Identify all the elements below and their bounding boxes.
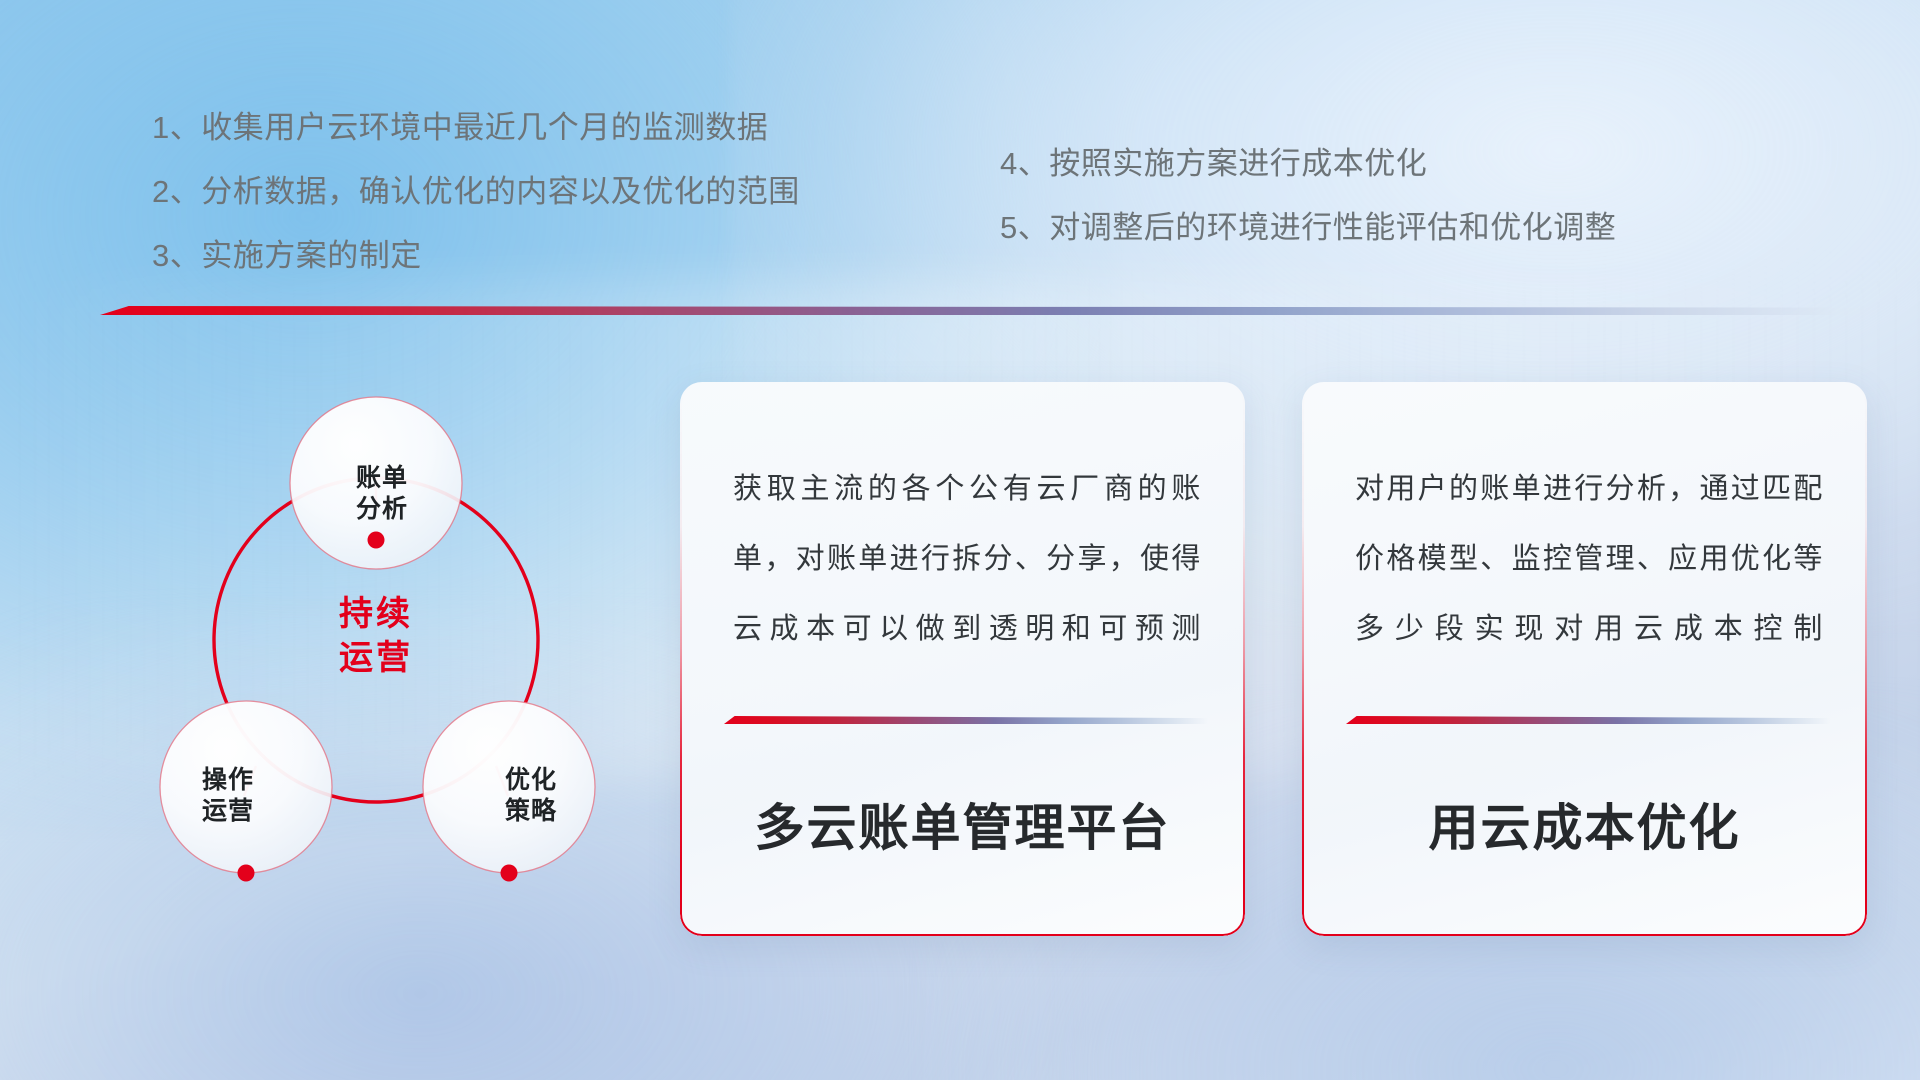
steps-left-column: 1、收集用户云环境中最近几个月的监测数据 2、分析数据，确认优化的内容以及优化的… (152, 112, 800, 304)
venn-label-optimization: 优化 策略 (451, 765, 611, 826)
venn-label-billing-analysis: 账单 分析 (302, 463, 462, 524)
card-divider-line (1346, 716, 1830, 724)
step-item-5: 5、对调整后的环境进行性能评估和优化调整 (1000, 212, 1616, 243)
venn-label-operation-ops: 操作 运营 (148, 765, 308, 826)
continuous-operations-venn-diagram: 账单 分析 操作 运营 优化 策略 持续 运营 (96, 350, 656, 930)
card-description: 对用户的账单进行分析，通过匹配价格模型、监控管理、应用优化等多少段实现对用云成本… (1355, 454, 1823, 665)
section-divider-gradient-bar (100, 306, 1890, 315)
card-title: 用云成本优化 (1302, 788, 1867, 860)
step-item-3: 3、实施方案的制定 (152, 240, 800, 271)
steps-right-column: 4、按照实施方案进行成本优化 5、对调整后的环境进行性能评估和优化调整 (1000, 148, 1616, 276)
feature-card-multi-cloud-billing-platform[interactable]: 获取主流的各个公有云厂商的账单，对账单进行拆分、分享，使得云成本可以做到透明和可… (680, 382, 1245, 936)
step-item-2: 2、分析数据，确认优化的内容以及优化的范围 (152, 176, 800, 207)
card-title: 多云账单管理平台 (680, 788, 1245, 860)
venn-node-dot-top (368, 532, 385, 549)
card-divider-gradient-bar (724, 716, 1208, 724)
venn-node-dot-right (501, 865, 518, 882)
process-steps-section: 1、收集用户云环境中最近几个月的监测数据 2、分析数据，确认优化的内容以及优化的… (0, 0, 1920, 300)
card-divider-line (724, 716, 1208, 724)
step-item-4: 4、按照实施方案进行成本优化 (1000, 148, 1616, 179)
venn-node-dot-left (238, 865, 255, 882)
card-description: 获取主流的各个公有云厂商的账单，对账单进行拆分、分享，使得云成本可以做到透明和可… (733, 454, 1201, 665)
card-divider-gradient-bar (1346, 716, 1830, 724)
card-body: 获取主流的各个公有云厂商的账单，对账单进行拆分、分享，使得云成本可以做到透明和可… (733, 454, 1201, 665)
step-item-1: 1、收集用户云环境中最近几个月的监测数据 (152, 112, 800, 143)
card-body: 对用户的账单进行分析，通过匹配价格模型、监控管理、应用优化等多少段实现对用云成本… (1355, 454, 1823, 665)
section-divider-line (100, 306, 1890, 315)
feature-card-cloud-cost-optimization[interactable]: 对用户的账单进行分析，通过匹配价格模型、监控管理、应用优化等多少段实现对用云成本… (1302, 382, 1867, 936)
venn-center-label: 持续 运营 (266, 593, 486, 680)
